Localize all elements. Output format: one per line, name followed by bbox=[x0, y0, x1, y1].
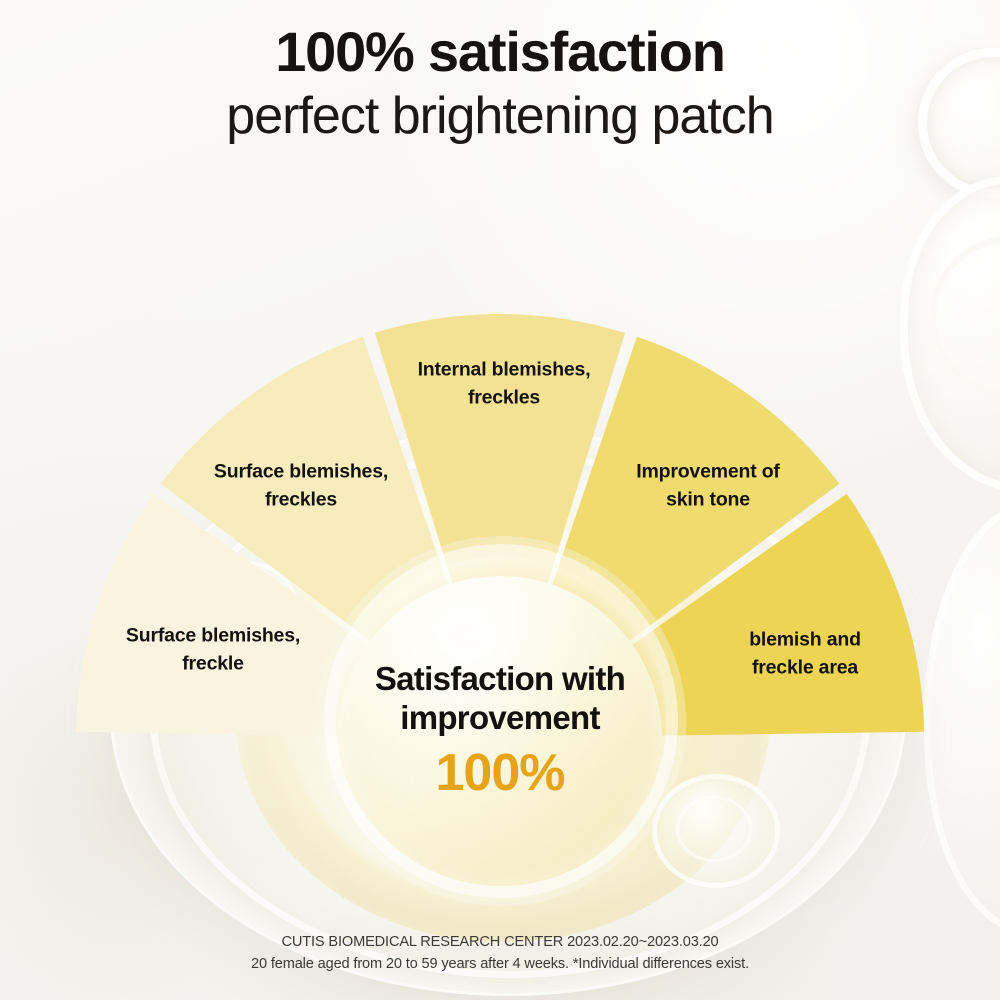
fan-segment-label-line1: Surface blemishes, bbox=[214, 460, 388, 482]
header-block: 100% satisfaction perfect brightening pa… bbox=[0, 22, 1000, 146]
glass-vessel-highlight bbox=[930, 236, 1000, 398]
glass-bead-right-inner bbox=[676, 796, 752, 862]
center-title: Satisfaction with improvement bbox=[0, 660, 1000, 738]
fan-segment-label-2: Internal blemishes,freckles bbox=[399, 356, 609, 411]
fan-segment-label-1: Surface blemishes,freckles bbox=[196, 458, 406, 513]
center-callout: Satisfaction with improvement 100% bbox=[0, 660, 1000, 800]
footnote-line-2: 20 female aged from 20 to 59 years after… bbox=[0, 954, 1000, 976]
center-percent-value: 100% bbox=[0, 746, 1000, 801]
fan-segment-label-line2: freckles bbox=[468, 386, 540, 408]
fan-segment-label-line1: Internal blemishes, bbox=[418, 358, 591, 380]
fan-segment-label-3: Improvement ofskin tone bbox=[603, 458, 813, 513]
fan-segment-label-line2: skin tone bbox=[666, 488, 750, 510]
satisfaction-fan-chart bbox=[0, 0, 1000, 1000]
fan-segment-label-line2: freckles bbox=[265, 488, 337, 510]
fan-segment-label-line1: blemish and bbox=[749, 628, 861, 650]
footnote-line-1: CUTIS BIOMEDICAL RESEARCH CENTER 2023.02… bbox=[0, 932, 1000, 954]
fan-segment-label-line1: Improvement of bbox=[636, 460, 779, 482]
page-title: 100% satisfaction bbox=[0, 22, 1000, 81]
center-title-line2: improvement bbox=[400, 699, 600, 736]
page-subtitle: perfect brightening patch bbox=[0, 87, 1000, 145]
center-title-line1: Satisfaction with bbox=[375, 660, 625, 697]
glass-vessel-top-right bbox=[900, 176, 1000, 492]
fan-segment-label-line1: Surface blemishes, bbox=[126, 624, 300, 646]
study-footnote: CUTIS BIOMEDICAL RESEARCH CENTER 2023.02… bbox=[0, 932, 1000, 976]
infographic-canvas: 100% satisfaction perfect brightening pa… bbox=[0, 0, 1000, 1000]
